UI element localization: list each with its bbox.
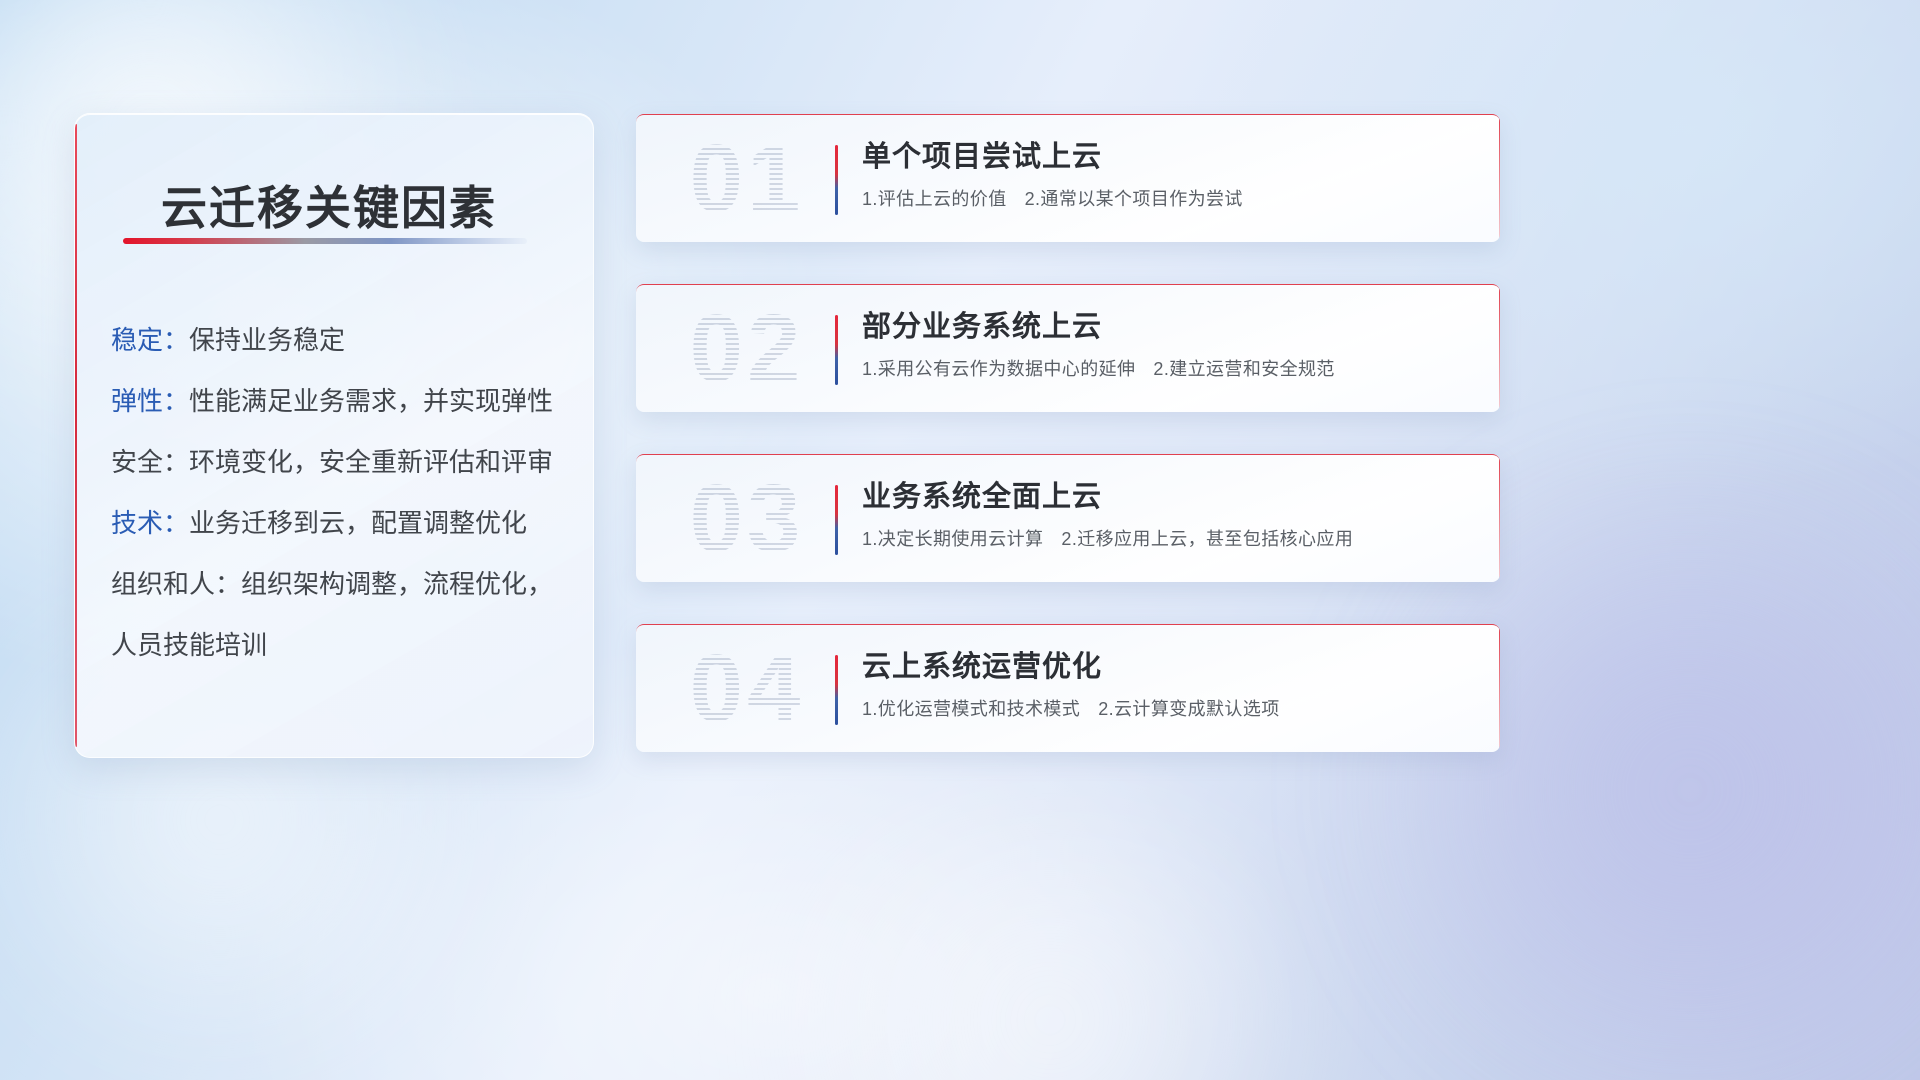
key-factor-text: 保持业务稳定	[189, 325, 345, 355]
key-factors-panel: 云迁移关键因素 稳定：保持业务稳定弹性：性能满足业务需求，并实现弹性安全：环境变…	[74, 113, 594, 758]
migration-stage-card[interactable]: 04云上系统运营优化1.优化运营模式和技术模式2.云计算变成默认选项	[636, 624, 1500, 752]
stage-number: 02	[672, 293, 822, 405]
stage-number: 03	[672, 463, 822, 575]
key-factors-list: 稳定：保持业务稳定弹性：性能满足业务需求，并实现弹性安全：环境变化，安全重新评估…	[111, 310, 569, 676]
stage-card-body: 业务系统全面上云1.决定长期使用云计算2.迁移应用上云，甚至包括核心应用	[862, 477, 1474, 552]
stage-title: 部分业务系统上云	[862, 307, 1474, 347]
accent-bar	[835, 485, 838, 555]
stage-description: 1.优化运营模式和技术模式2.云计算变成默认选项	[862, 696, 1474, 722]
stage-card-body: 部分业务系统上云1.采用公有云作为数据中心的延伸2.建立运营和安全规范	[862, 307, 1474, 382]
stage-point-1: 1.采用公有云作为数据中心的延伸	[862, 359, 1135, 379]
background-glow-bottom-center	[700, 820, 1400, 1080]
key-factor-row: 稳定：保持业务稳定	[111, 310, 569, 371]
migration-stage-card-list: 01单个项目尝试上云1.评估上云的价值2.通常以某个项目作为尝试02部分业务系统…	[636, 114, 1500, 794]
stage-description: 1.决定长期使用云计算2.迁移应用上云，甚至包括核心应用	[862, 526, 1474, 552]
migration-stage-card[interactable]: 02部分业务系统上云1.采用公有云作为数据中心的延伸2.建立运营和安全规范	[636, 284, 1500, 412]
accent-bar	[835, 315, 838, 385]
key-factor-label: 组织和人：	[111, 569, 241, 599]
accent-bar	[835, 145, 838, 215]
slide-canvas: 云迁移关键因素 稳定：保持业务稳定弹性：性能满足业务需求，并实现弹性安全：环境变…	[0, 0, 1920, 1080]
key-factor-text: 业务迁移到云，配置调整优化	[189, 508, 527, 538]
key-factor-label: 安全：	[111, 447, 189, 477]
stage-point-1: 1.优化运营模式和技术模式	[862, 699, 1080, 719]
stage-number: 01	[672, 123, 822, 235]
accent-bar	[835, 655, 838, 725]
key-factor-label: 弹性：	[111, 386, 189, 416]
key-factor-label: 技术：	[111, 508, 189, 538]
key-factor-text: 人员技能培训	[111, 630, 267, 660]
stage-title: 业务系统全面上云	[862, 477, 1474, 517]
stage-description: 1.评估上云的价值2.通常以某个项目作为尝试	[862, 186, 1474, 212]
stage-title: 云上系统运营优化	[862, 647, 1474, 687]
key-factor-text: 性能满足业务需求，并实现弹性	[189, 386, 553, 416]
stage-point-2: 2.通常以某个项目作为尝试	[1025, 189, 1243, 209]
key-factor-text: 组织架构调整，流程优化，	[241, 569, 553, 599]
stage-number: 04	[672, 633, 822, 745]
migration-stage-card[interactable]: 01单个项目尝试上云1.评估上云的价值2.通常以某个项目作为尝试	[636, 114, 1500, 242]
key-factor-row: 技术：业务迁移到云，配置调整优化	[111, 493, 569, 554]
stage-point-2: 2.建立运营和安全规范	[1153, 359, 1334, 379]
stage-card-body: 单个项目尝试上云1.评估上云的价值2.通常以某个项目作为尝试	[862, 137, 1474, 212]
key-factor-row: 安全：环境变化，安全重新评估和评审	[111, 432, 569, 493]
stage-point-2: 2.云计算变成默认选项	[1098, 699, 1279, 719]
key-factor-text: 环境变化，安全重新评估和评审	[189, 447, 553, 477]
title-underline-gradient	[123, 238, 527, 244]
panel-title: 云迁移关键因素	[161, 172, 497, 238]
stage-description: 1.采用公有云作为数据中心的延伸2.建立运营和安全规范	[862, 356, 1474, 382]
key-factor-row: 组织和人：组织架构调整，流程优化，	[111, 554, 569, 615]
stage-point-1: 1.评估上云的价值	[862, 189, 1007, 209]
key-factor-label: 稳定：	[111, 325, 189, 355]
stage-title: 单个项目尝试上云	[862, 137, 1474, 177]
stage-point-1: 1.决定长期使用云计算	[862, 529, 1043, 549]
stage-card-body: 云上系统运营优化1.优化运营模式和技术模式2.云计算变成默认选项	[862, 647, 1474, 722]
stage-point-2: 2.迁移应用上云，甚至包括核心应用	[1061, 529, 1353, 549]
key-factor-row: 人员技能培训	[111, 615, 569, 676]
key-factor-row: 弹性：性能满足业务需求，并实现弹性	[111, 371, 569, 432]
migration-stage-card[interactable]: 03业务系统全面上云1.决定长期使用云计算2.迁移应用上云，甚至包括核心应用	[636, 454, 1500, 582]
